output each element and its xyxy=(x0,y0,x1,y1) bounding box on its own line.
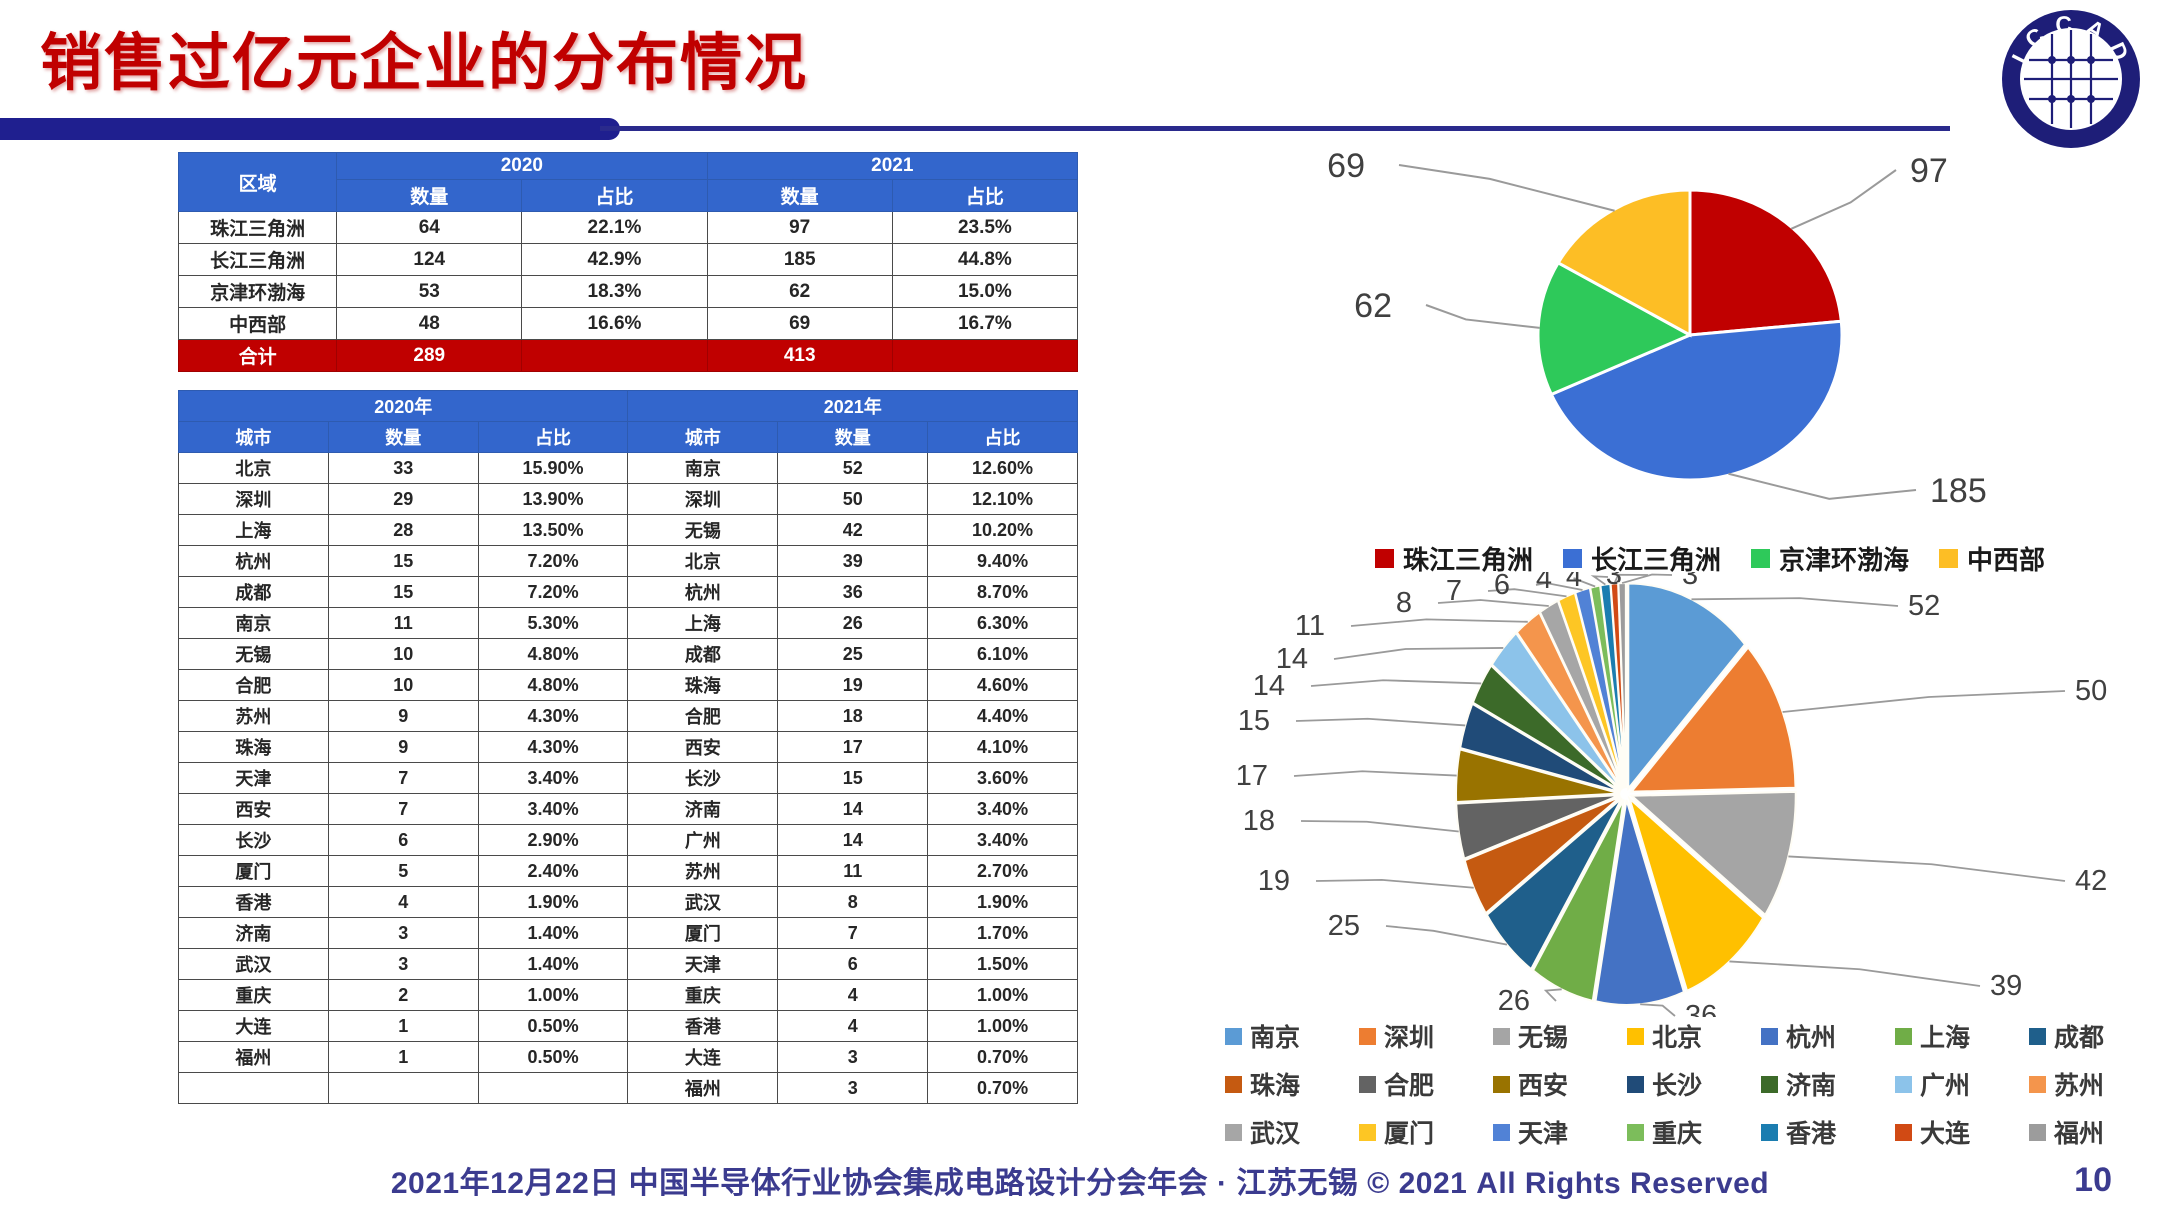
pct-2021: 1.00% xyxy=(928,980,1078,1011)
legend-row: 南京深圳无锡北京杭州上海成都 xyxy=(1225,1012,2160,1060)
table-row: 大连10.50%香港41.00% xyxy=(179,1011,1078,1042)
pct-2021: 10.20% xyxy=(928,515,1078,546)
pct-2020: 7.20% xyxy=(478,577,628,608)
legend-item-珠海[interactable]: 珠海 xyxy=(1225,1066,1347,1102)
count-2020: 7 xyxy=(328,794,478,825)
legend-item-长沙[interactable]: 长沙 xyxy=(1627,1066,1749,1102)
pct-2021: 9.40% xyxy=(928,546,1078,577)
total-2021: 413 xyxy=(707,340,892,372)
legend-label: 深圳 xyxy=(1384,1018,1434,1054)
col-count-2021: 数量 xyxy=(778,422,928,453)
table-row: 成都157.20%杭州368.70% xyxy=(179,577,1078,608)
pct-2021: 12.10% xyxy=(928,484,1078,515)
count-2020: 29 xyxy=(328,484,478,515)
pie-leader-line xyxy=(1296,719,1465,726)
count-2020: 9 xyxy=(328,701,478,732)
legend-item-重庆[interactable]: 重庆 xyxy=(1627,1114,1749,1150)
city-2021: 杭州 xyxy=(628,577,778,608)
count-2021: 3 xyxy=(778,1073,928,1104)
pct-2020: 0.50% xyxy=(478,1011,628,1042)
page-number: 10 xyxy=(2074,1161,2112,1200)
legend-swatch-icon xyxy=(1761,1028,1778,1045)
pie-leader-line xyxy=(1316,880,1474,888)
header-accent-bar xyxy=(0,118,620,140)
count-2021: 25 xyxy=(778,639,928,670)
total-pct-2021 xyxy=(892,340,1077,372)
legend-item-武汉[interactable]: 武汉 xyxy=(1225,1114,1347,1150)
pie-data-label: 15 xyxy=(1238,705,1270,737)
page-title: 销售过亿元企业的分布情况 xyxy=(40,12,808,102)
legend-swatch-icon xyxy=(1493,1124,1510,1141)
city-2020: 香港 xyxy=(179,887,329,918)
table-row: 无锡104.80%成都256.10% xyxy=(179,639,1078,670)
pct-2021: 15.0% xyxy=(892,276,1077,308)
pie-data-label: 8 xyxy=(1396,587,1412,619)
pct-2021: 16.7% xyxy=(892,308,1077,340)
pct-2020: 1.40% xyxy=(478,918,628,949)
legend-item-福州[interactable]: 福州 xyxy=(2029,1114,2151,1150)
pct-2021: 4.40% xyxy=(928,701,1078,732)
legend-label: 天津 xyxy=(1518,1114,1568,1150)
legend-label: 济南 xyxy=(1786,1066,1836,1102)
pie-data-label: 52 xyxy=(1908,590,1940,622)
count-2020: 7 xyxy=(328,763,478,794)
pie-leader-line xyxy=(1351,619,1528,626)
legend-swatch-icon xyxy=(1939,549,1958,568)
legend-swatch-icon xyxy=(1359,1124,1376,1141)
count-2020: 6 xyxy=(328,825,478,856)
count-2020: 10 xyxy=(328,670,478,701)
legend-item-济南[interactable]: 济南 xyxy=(1761,1066,1883,1102)
pie-data-label: 50 xyxy=(2075,675,2107,707)
total-pct-2020 xyxy=(522,340,707,372)
legend-swatch-icon xyxy=(1895,1124,1912,1141)
legend-item-成都[interactable]: 成都 xyxy=(2029,1018,2151,1054)
pct-2020: 4.80% xyxy=(478,639,628,670)
legend-item-无锡[interactable]: 无锡 xyxy=(1493,1018,1615,1054)
table-row: 长沙62.90%广州143.40% xyxy=(179,825,1078,856)
group-header-2021: 2021年 xyxy=(628,391,1078,422)
pie-data-label: 18 xyxy=(1243,805,1275,837)
city-2020: 南京 xyxy=(179,608,329,639)
table-row: 深圳2913.90%深圳5012.10% xyxy=(179,484,1078,515)
legend-item-杭州[interactable]: 杭州 xyxy=(1761,1018,1883,1054)
count-2021: 69 xyxy=(707,308,892,340)
pct-2020: 3.40% xyxy=(478,763,628,794)
count-2021: 7 xyxy=(778,918,928,949)
pct-2020: 13.50% xyxy=(478,515,628,546)
pie-leader-line xyxy=(1334,648,1503,659)
group-header-2020: 2020年 xyxy=(179,391,628,422)
count-2021: 26 xyxy=(778,608,928,639)
legend-label: 武汉 xyxy=(1250,1114,1300,1150)
legend-item-西安[interactable]: 西安 xyxy=(1493,1066,1615,1102)
count-2021: 17 xyxy=(778,732,928,763)
col-pct-2020: 占比 xyxy=(522,180,707,212)
col-count-2020: 数量 xyxy=(328,422,478,453)
legend-swatch-icon xyxy=(1225,1028,1242,1045)
pie-data-label: 17 xyxy=(1236,760,1268,792)
legend-swatch-icon xyxy=(1375,549,1394,568)
pie-leader-line xyxy=(1546,989,1562,1001)
city-2021: 厦门 xyxy=(628,918,778,949)
city-2020: 济南 xyxy=(179,918,329,949)
pie-leader-line xyxy=(1426,305,1540,328)
pie-leader-line xyxy=(1301,821,1459,832)
table-row: 合肥104.80%珠海194.60% xyxy=(179,670,1078,701)
total-label: 合计 xyxy=(179,340,337,372)
city-2021: 济南 xyxy=(628,794,778,825)
table-row: 香港41.90%武汉81.90% xyxy=(179,887,1078,918)
col-count-2020: 数量 xyxy=(337,180,522,212)
legend-swatch-icon xyxy=(1895,1076,1912,1093)
count-2021: 15 xyxy=(778,763,928,794)
table-header-row: 区域 2020 2021 xyxy=(179,153,1078,180)
pie-data-label: 25 xyxy=(1328,910,1360,942)
legend-swatch-icon xyxy=(1225,1076,1242,1093)
regions-pie-svg: 971856269 xyxy=(1270,120,2150,540)
pie-leader-line xyxy=(1399,165,1615,211)
count-2021: 36 xyxy=(778,577,928,608)
count-2021: 8 xyxy=(778,887,928,918)
legend-swatch-icon xyxy=(1493,1028,1510,1045)
legend-item-香港[interactable]: 香港 xyxy=(1761,1114,1883,1150)
city-2020 xyxy=(179,1073,329,1104)
legend-label: 厦门 xyxy=(1384,1114,1434,1150)
pie-data-label: 185 xyxy=(1930,472,1987,510)
pct-2020: 22.1% xyxy=(522,212,707,244)
pct-2020: 0.50% xyxy=(478,1042,628,1073)
legend-item-北京[interactable]: 北京 xyxy=(1627,1018,1749,1054)
pct-2020 xyxy=(478,1073,628,1104)
pct-2021: 23.5% xyxy=(892,212,1077,244)
count-2021: 185 xyxy=(707,244,892,276)
region-name: 中西部 xyxy=(179,308,337,340)
region-name: 京津环渤海 xyxy=(179,276,337,308)
table-row: 苏州94.30%合肥184.40% xyxy=(179,701,1078,732)
table-row: 武汉31.40%天津61.50% xyxy=(179,949,1078,980)
city-2020: 武汉 xyxy=(179,949,329,980)
group-header-2021: 2021 xyxy=(707,153,1077,180)
legend-swatch-icon xyxy=(2029,1124,2046,1141)
count-2020: 5 xyxy=(328,856,478,887)
count-2021: 62 xyxy=(707,276,892,308)
col-pct-2021: 占比 xyxy=(892,180,1077,212)
city-2021: 成都 xyxy=(628,639,778,670)
city-2020: 珠海 xyxy=(179,732,329,763)
pct-2020: 13.90% xyxy=(478,484,628,515)
pct-2021: 0.70% xyxy=(928,1073,1078,1104)
count-2021: 14 xyxy=(778,825,928,856)
pct-2020: 42.9% xyxy=(522,244,707,276)
city-2021: 上海 xyxy=(628,608,778,639)
pct-2020: 7.20% xyxy=(478,546,628,577)
table-row: 厦门52.40%苏州112.70% xyxy=(179,856,1078,887)
legend-swatch-icon xyxy=(1761,1076,1778,1093)
pie-data-label: 14 xyxy=(1276,643,1308,675)
legend-label: 无锡 xyxy=(1518,1018,1568,1054)
legend-swatch-icon xyxy=(1627,1124,1644,1141)
city-2020: 大连 xyxy=(179,1011,329,1042)
count-2021: 18 xyxy=(778,701,928,732)
count-2020: 2 xyxy=(328,980,478,1011)
col-pct-2020: 占比 xyxy=(478,422,628,453)
pct-2021: 1.00% xyxy=(928,1011,1078,1042)
legend-swatch-icon xyxy=(1627,1076,1644,1093)
legend-label: 上海 xyxy=(1920,1018,1970,1054)
pie-data-label: 69 xyxy=(1327,147,1365,185)
region-name: 长江三角洲 xyxy=(179,244,337,276)
city-2021: 珠海 xyxy=(628,670,778,701)
pie-data-label: 7 xyxy=(1446,575,1462,607)
legend-swatch-icon xyxy=(1895,1028,1912,1045)
legend-label: 成都 xyxy=(2054,1018,2104,1054)
city-2021: 无锡 xyxy=(628,515,778,546)
count-2021: 4 xyxy=(778,1011,928,1042)
col-city-2020: 城市 xyxy=(179,422,329,453)
pct-2021: 4.10% xyxy=(928,732,1078,763)
city-2021: 北京 xyxy=(628,546,778,577)
pct-2020: 2.90% xyxy=(478,825,628,856)
city-2021: 合肥 xyxy=(628,701,778,732)
cities-pie-chart: 52504239362625191817151414118764433 xyxy=(1230,572,2160,1017)
city-2020: 北京 xyxy=(179,453,329,484)
pct-2020: 4.30% xyxy=(478,701,628,732)
city-2020: 天津 xyxy=(179,763,329,794)
legend-item-上海[interactable]: 上海 xyxy=(1895,1018,2017,1054)
legend-label: 北京 xyxy=(1652,1018,1702,1054)
pct-2021: 3.40% xyxy=(928,794,1078,825)
table-row: 杭州157.20%北京399.40% xyxy=(179,546,1078,577)
table-row: 重庆21.00%重庆41.00% xyxy=(179,980,1078,1011)
count-2021: 19 xyxy=(778,670,928,701)
pct-2021: 12.60% xyxy=(928,453,1078,484)
pct-2021: 1.50% xyxy=(928,949,1078,980)
col-region: 区域 xyxy=(179,153,337,212)
pie-leader-line xyxy=(1788,856,2065,881)
city-2021: 长沙 xyxy=(628,763,778,794)
pie-data-label: 42 xyxy=(2075,865,2107,897)
table-row: 济南31.40%厦门71.70% xyxy=(179,918,1078,949)
count-2020: 3 xyxy=(328,918,478,949)
footer-text: 2021年12月22日 中国半导体行业协会集成电路设计分会年会 · 江苏无锡 ©… xyxy=(0,1158,2160,1202)
pie-leader-line xyxy=(1783,691,2065,712)
col-city-2021: 城市 xyxy=(628,422,778,453)
legend-label: 珠海 xyxy=(1250,1066,1300,1102)
pct-2020: 1.40% xyxy=(478,949,628,980)
pie-data-label: 4 xyxy=(1536,572,1552,595)
pct-2020: 18.3% xyxy=(522,276,707,308)
pct-2020: 4.80% xyxy=(478,670,628,701)
table-row: 天津73.40%长沙153.60% xyxy=(179,763,1078,794)
count-2020: 15 xyxy=(328,546,478,577)
city-2020: 长沙 xyxy=(179,825,329,856)
legend-label: 香港 xyxy=(1786,1114,1836,1150)
pct-2020: 1.00% xyxy=(478,980,628,1011)
pie-leader-line xyxy=(1622,575,1672,584)
count-2020: 28 xyxy=(328,515,478,546)
pie-leader-line xyxy=(1692,598,1898,606)
pie-leader-line xyxy=(1311,680,1481,686)
city-2021: 苏州 xyxy=(628,856,778,887)
table-total-row: 合计289413 xyxy=(179,340,1078,372)
city-2020: 福州 xyxy=(179,1042,329,1073)
table-row: 西安73.40%济南143.40% xyxy=(179,794,1078,825)
pct-2021: 6.10% xyxy=(928,639,1078,670)
legend-swatch-icon xyxy=(1225,1124,1242,1141)
city-2020: 杭州 xyxy=(179,546,329,577)
count-2020: 53 xyxy=(337,276,522,308)
table-row: 长江三角洲12442.9%18544.8% xyxy=(179,244,1078,276)
pie-slice-珠江三角洲 xyxy=(1690,190,1841,335)
legend-item-广州[interactable]: 广州 xyxy=(1895,1066,2017,1102)
pct-2021: 3.40% xyxy=(928,825,1078,856)
legend-swatch-icon xyxy=(1563,549,1582,568)
city-2020: 厦门 xyxy=(179,856,329,887)
legend-row: 武汉厦门天津重庆香港大连福州 xyxy=(1225,1108,2160,1156)
city-2020: 无锡 xyxy=(179,639,329,670)
table-row: 珠海94.30%西安174.10% xyxy=(179,732,1078,763)
count-2021: 42 xyxy=(778,515,928,546)
count-2021: 11 xyxy=(778,856,928,887)
pie-data-label: 97 xyxy=(1910,152,1948,190)
legend-item-深圳[interactable]: 深圳 xyxy=(1359,1018,1481,1054)
legend-item-合肥[interactable]: 合肥 xyxy=(1359,1066,1481,1102)
count-2020: 124 xyxy=(337,244,522,276)
count-2020: 3 xyxy=(328,949,478,980)
pct-2021: 2.70% xyxy=(928,856,1078,887)
legend-label: 西安 xyxy=(1518,1066,1568,1102)
legend-row: 珠海合肥西安长沙济南广州苏州 xyxy=(1225,1060,2160,1108)
table-row: 珠江三角洲6422.1%9723.5% xyxy=(179,212,1078,244)
pie-data-label: 39 xyxy=(1990,970,2022,1002)
pct-2021: 3.60% xyxy=(928,763,1078,794)
pct-2020: 3.40% xyxy=(478,794,628,825)
cities-pie-svg: 52504239362625191817151414118764433 xyxy=(1230,572,2160,1017)
count-2020: 1 xyxy=(328,1011,478,1042)
city-2020: 深圳 xyxy=(179,484,329,515)
count-2020 xyxy=(328,1073,478,1104)
table-subheader-row: 城市 数量 占比 城市 数量 占比 xyxy=(179,422,1078,453)
pct-2020: 16.6% xyxy=(522,308,707,340)
count-2020: 15 xyxy=(328,577,478,608)
table-row: 北京3315.90%南京5212.60% xyxy=(179,453,1078,484)
count-2020: 9 xyxy=(328,732,478,763)
pie-leader-line xyxy=(1791,170,1896,229)
legend-label: 南京 xyxy=(1250,1018,1300,1054)
count-2020: 1 xyxy=(328,1042,478,1073)
cities-table: 2020年 2021年 城市 数量 占比 城市 数量 占比 北京3315.90%… xyxy=(178,390,1078,1104)
col-pct-2021: 占比 xyxy=(928,422,1078,453)
city-2021: 香港 xyxy=(628,1011,778,1042)
city-2020: 重庆 xyxy=(179,980,329,1011)
count-2020: 11 xyxy=(328,608,478,639)
count-2020: 33 xyxy=(328,453,478,484)
regions-pie-chart: 971856269 xyxy=(1270,120,2150,540)
pct-2020: 5.30% xyxy=(478,608,628,639)
city-2020: 合肥 xyxy=(179,670,329,701)
legend-item-苏州[interactable]: 苏州 xyxy=(2029,1066,2151,1102)
legend-item-大连[interactable]: 大连 xyxy=(1895,1114,2017,1150)
legend-swatch-icon xyxy=(1359,1028,1376,1045)
count-2021: 39 xyxy=(778,546,928,577)
pct-2020: 15.90% xyxy=(478,453,628,484)
count-2021: 6 xyxy=(778,949,928,980)
table-header-row: 2020年 2021年 xyxy=(179,391,1078,422)
pie-leader-line xyxy=(1386,926,1507,945)
city-2021: 福州 xyxy=(628,1073,778,1104)
city-2021: 广州 xyxy=(628,825,778,856)
group-header-2020: 2020 xyxy=(337,153,707,180)
count-2021: 50 xyxy=(778,484,928,515)
legend-label: 杭州 xyxy=(1786,1018,1836,1054)
pie-data-label: 4 xyxy=(1566,572,1582,593)
legend-swatch-icon xyxy=(1359,1076,1376,1093)
pct-2021: 44.8% xyxy=(892,244,1077,276)
pct-2021: 1.90% xyxy=(928,887,1078,918)
legend-label: 重庆 xyxy=(1652,1114,1702,1150)
pie-data-label: 6 xyxy=(1494,572,1510,601)
city-2021: 西安 xyxy=(628,732,778,763)
legend-item-厦门[interactable]: 厦门 xyxy=(1359,1114,1481,1150)
count-2021: 3 xyxy=(778,1042,928,1073)
city-2020: 苏州 xyxy=(179,701,329,732)
count-2021: 4 xyxy=(778,980,928,1011)
pct-2021: 1.70% xyxy=(928,918,1078,949)
city-2021: 天津 xyxy=(628,949,778,980)
pct-2021: 4.60% xyxy=(928,670,1078,701)
pct-2020: 1.90% xyxy=(478,887,628,918)
city-2021: 重庆 xyxy=(628,980,778,1011)
col-count-2021: 数量 xyxy=(707,180,892,212)
pie-data-label: 62 xyxy=(1354,287,1392,325)
pie-data-label: 3 xyxy=(1682,572,1698,591)
table-row: 福州30.70% xyxy=(179,1073,1078,1104)
total-2020: 289 xyxy=(337,340,522,372)
table-row: 福州10.50%大连30.70% xyxy=(179,1042,1078,1073)
pct-2021: 8.70% xyxy=(928,577,1078,608)
count-2020: 48 xyxy=(337,308,522,340)
legend-label: 广州 xyxy=(1920,1066,1970,1102)
legend-swatch-icon xyxy=(2029,1028,2046,1045)
region-name: 珠江三角洲 xyxy=(179,212,337,244)
count-2021: 52 xyxy=(778,453,928,484)
count-2020: 64 xyxy=(337,212,522,244)
legend-swatch-icon xyxy=(1493,1076,1510,1093)
legend-swatch-icon xyxy=(2029,1076,2046,1093)
table-row: 上海2813.50%无锡4210.20% xyxy=(179,515,1078,546)
legend-item-天津[interactable]: 天津 xyxy=(1493,1114,1615,1150)
pct-2021: 6.30% xyxy=(928,608,1078,639)
table-row: 中西部4816.6%6916.7% xyxy=(179,308,1078,340)
legend-swatch-icon xyxy=(1627,1028,1644,1045)
city-2021: 大连 xyxy=(628,1042,778,1073)
legend-label: 大连 xyxy=(1920,1114,1970,1150)
count-2020: 10 xyxy=(328,639,478,670)
legend-label: 福州 xyxy=(2054,1114,2104,1150)
legend-label: 合肥 xyxy=(1384,1066,1434,1102)
legend-item-南京[interactable]: 南京 xyxy=(1225,1018,1347,1054)
pie-leader-line xyxy=(1294,771,1457,776)
city-2021: 武汉 xyxy=(628,887,778,918)
cities-pie-legend: 南京深圳无锡北京杭州上海成都珠海合肥西安长沙济南广州苏州武汉厦门天津重庆香港大连… xyxy=(1225,1012,2160,1156)
legend-label: 苏州 xyxy=(2054,1066,2104,1102)
city-2020: 西安 xyxy=(179,794,329,825)
legend-swatch-icon xyxy=(1761,1124,1778,1141)
legend-label: 长沙 xyxy=(1652,1066,1702,1102)
pct-2020: 4.30% xyxy=(478,732,628,763)
pct-2021: 0.70% xyxy=(928,1042,1078,1073)
